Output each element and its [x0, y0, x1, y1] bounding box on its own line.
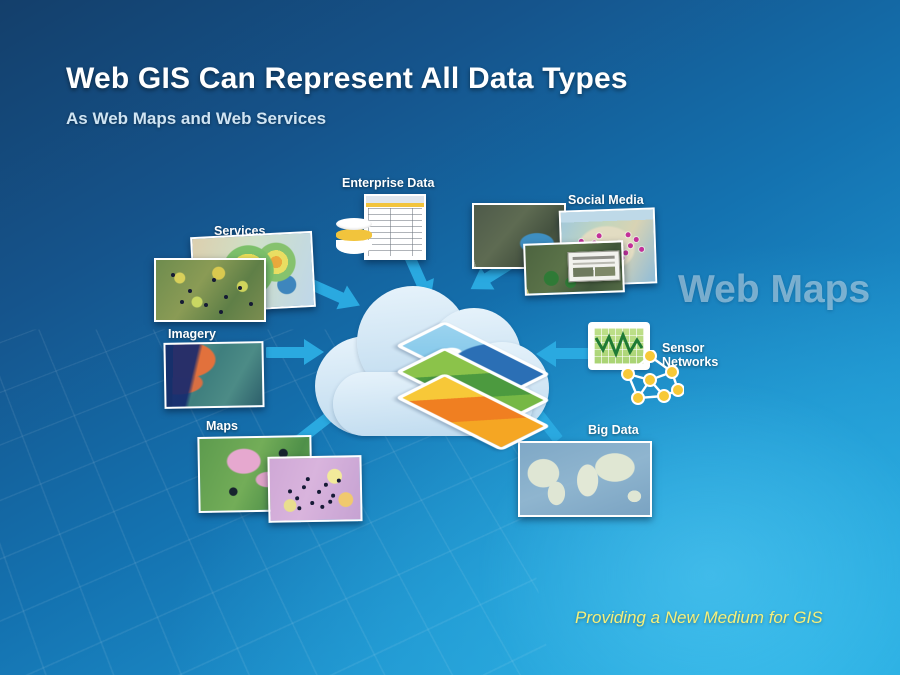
database-band: [336, 229, 372, 241]
label-maps: Maps: [206, 419, 238, 433]
thumbnail-maps-thematic[interactable]: [267, 455, 362, 523]
services-point-overlay: [156, 260, 264, 320]
maps-point-overlay: [269, 457, 360, 521]
database-body: [336, 240, 372, 254]
label-enterprise-data: Enterprise Data: [342, 176, 434, 190]
sensor-networks-icon[interactable]: [588, 322, 684, 408]
thumbnail-imagery[interactable]: [163, 341, 264, 409]
thumbnail-big-data-world-map[interactable]: [518, 441, 652, 517]
database-icon: [336, 218, 372, 260]
network-graph-icon: [616, 350, 684, 408]
thumbnail-services-points[interactable]: [154, 258, 266, 322]
web-maps-watermark: Web Maps: [678, 268, 870, 312]
map-popup: [568, 250, 621, 283]
page-title: Web GIS Can Represent All Data Types: [66, 62, 628, 96]
label-social-media: Social Media: [568, 193, 644, 207]
map-layers-icon[interactable]: [398, 325, 548, 445]
database-cap: [336, 218, 372, 230]
slide-canvas: Web GIS Can Represent All Data Types As …: [0, 0, 900, 675]
thumbnail-enterprise-spreadsheet[interactable]: [364, 194, 426, 260]
footer-tagline: Providing a New Medium for GIS: [575, 608, 823, 628]
spreadsheet-columns: [368, 208, 423, 255]
spreadsheet-highlight-row: [366, 203, 424, 207]
label-big-data: Big Data: [588, 423, 639, 437]
label-imagery: Imagery: [168, 327, 216, 341]
page-subtitle: As Web Maps and Web Services: [66, 109, 326, 129]
